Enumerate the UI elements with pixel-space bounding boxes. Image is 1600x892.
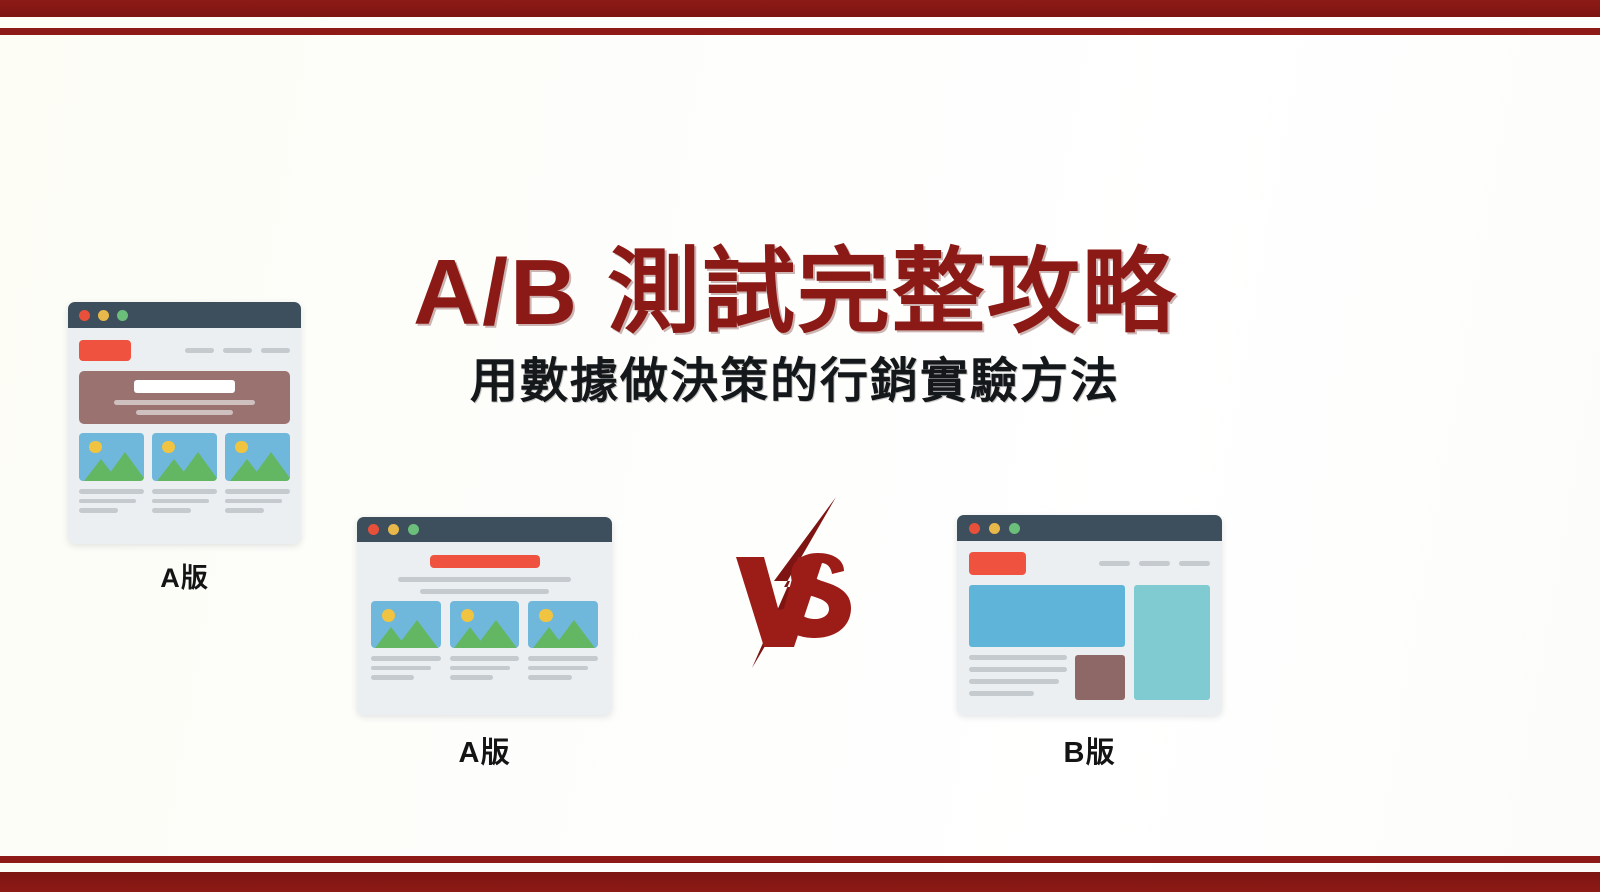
- hero-banner: [79, 371, 290, 424]
- sun-icon: [382, 609, 395, 622]
- card-text-line: [79, 508, 118, 513]
- card-text-line: [152, 508, 191, 513]
- browser-content: [357, 542, 612, 715]
- thumb-block-mauve: [1075, 655, 1125, 700]
- top-thin-bar: [0, 28, 1600, 35]
- browser-titlebar: [357, 517, 612, 542]
- close-dot-icon: [368, 524, 379, 535]
- card-item: [225, 433, 290, 518]
- nav-link-placeholder: [185, 348, 214, 353]
- browser-titlebar: [68, 302, 301, 328]
- body-text-line: [969, 655, 1067, 660]
- maximize-dot-icon: [1009, 523, 1020, 534]
- mountain-icon: [396, 620, 438, 648]
- sun-icon: [89, 441, 101, 453]
- card-item: [528, 601, 598, 685]
- sun-icon: [235, 441, 247, 453]
- card-text-line: [152, 489, 217, 494]
- versus-badge: [718, 495, 868, 670]
- image-placeholder-icon: [371, 601, 441, 648]
- page-title: A/B 測試完整攻略: [330, 243, 1260, 342]
- subtext-line: [398, 577, 571, 582]
- card-item: [152, 433, 217, 518]
- nav-link-placeholder: [261, 348, 290, 353]
- image-placeholder-icon: [79, 433, 144, 481]
- maximize-dot-icon: [117, 310, 128, 321]
- sun-icon: [162, 441, 174, 453]
- card-item: [79, 433, 144, 518]
- bottom-thick-bar: [0, 872, 1600, 892]
- mountain-icon: [177, 452, 217, 481]
- card-text-line: [528, 675, 571, 680]
- text-column: [969, 655, 1067, 703]
- logo-block: [79, 340, 131, 361]
- nav-link-placeholder: [1139, 561, 1170, 566]
- browser-content: [957, 541, 1222, 715]
- hero-text-placeholder: [136, 410, 233, 415]
- mountain-icon: [250, 452, 290, 481]
- main-column: [969, 585, 1125, 703]
- image-placeholder-icon: [528, 601, 598, 648]
- slide-root: A/B 測試完整攻略 用數據做決策的行銷實驗方法: [0, 0, 1600, 892]
- nav-links: [185, 348, 290, 353]
- sidebar-column: [1134, 585, 1210, 703]
- card-text-line: [450, 666, 510, 671]
- mockup-label-a-small: A版: [357, 729, 612, 771]
- logo-block: [969, 552, 1026, 575]
- card-text-line: [371, 656, 441, 661]
- image-placeholder-icon: [225, 433, 290, 481]
- card-text-line: [371, 666, 431, 671]
- browser-mockup-a-small[interactable]: [357, 517, 612, 715]
- card-text-line: [225, 489, 290, 494]
- browser-mockup-b[interactable]: [957, 515, 1222, 715]
- card-text-line: [528, 666, 588, 671]
- sun-icon: [461, 609, 474, 622]
- nav-link-placeholder: [223, 348, 252, 353]
- image-placeholder-icon: [152, 433, 217, 481]
- card-grid: [79, 433, 290, 518]
- sidebar-block-teal: [1134, 585, 1210, 700]
- card-text-line: [225, 508, 264, 513]
- card-text-line: [225, 499, 282, 504]
- card-grid: [371, 601, 598, 685]
- mock-header-row: [969, 552, 1210, 575]
- browser-titlebar: [957, 515, 1222, 541]
- body-text-line: [969, 691, 1034, 696]
- subtext-line: [420, 589, 549, 594]
- body-text-line: [969, 679, 1059, 684]
- text-and-thumb-row: [969, 655, 1125, 703]
- mockup-label-b: B版: [957, 729, 1222, 771]
- card-text-line: [450, 656, 520, 661]
- close-dot-icon: [969, 523, 980, 534]
- minimize-dot-icon: [388, 524, 399, 535]
- maximize-dot-icon: [408, 524, 419, 535]
- nav-links: [1099, 561, 1210, 566]
- card-text-line: [528, 656, 598, 661]
- browser-mockup-a-large[interactable]: [68, 302, 301, 544]
- hero-block-blue: [969, 585, 1125, 647]
- browser-content: [68, 328, 301, 544]
- content-split: [969, 585, 1210, 703]
- bottom-thin-bar: [0, 856, 1600, 863]
- sun-icon: [539, 609, 552, 622]
- mountain-icon: [553, 620, 595, 648]
- mockup-label-a-large: A版: [68, 556, 301, 595]
- image-placeholder-icon: [450, 601, 520, 648]
- card-text-line: [79, 489, 144, 494]
- card-text-line: [152, 499, 209, 504]
- card-text-line: [371, 675, 414, 680]
- minimize-dot-icon: [989, 523, 1000, 534]
- top-thick-bar: [0, 0, 1600, 17]
- mock-header-row: [79, 340, 290, 361]
- body-text-line: [969, 667, 1067, 672]
- card-item: [450, 601, 520, 685]
- hero-headline-placeholder: [134, 380, 234, 393]
- nav-link-placeholder: [1099, 561, 1130, 566]
- headline-block: A/B 測試完整攻略 用數據做決策的行銷實驗方法: [330, 243, 1260, 408]
- headline-block-placeholder: [430, 555, 540, 568]
- card-text-line: [450, 675, 493, 680]
- close-dot-icon: [79, 310, 90, 321]
- nav-link-placeholder: [1179, 561, 1210, 566]
- card-text-line: [79, 499, 136, 504]
- hero-text-placeholder: [114, 400, 254, 405]
- card-item: [371, 601, 441, 685]
- minimize-dot-icon: [98, 310, 109, 321]
- mountain-icon: [104, 452, 144, 481]
- mountain-icon: [475, 620, 517, 648]
- page-subtitle: 用數據做決策的行銷實驗方法: [330, 356, 1260, 409]
